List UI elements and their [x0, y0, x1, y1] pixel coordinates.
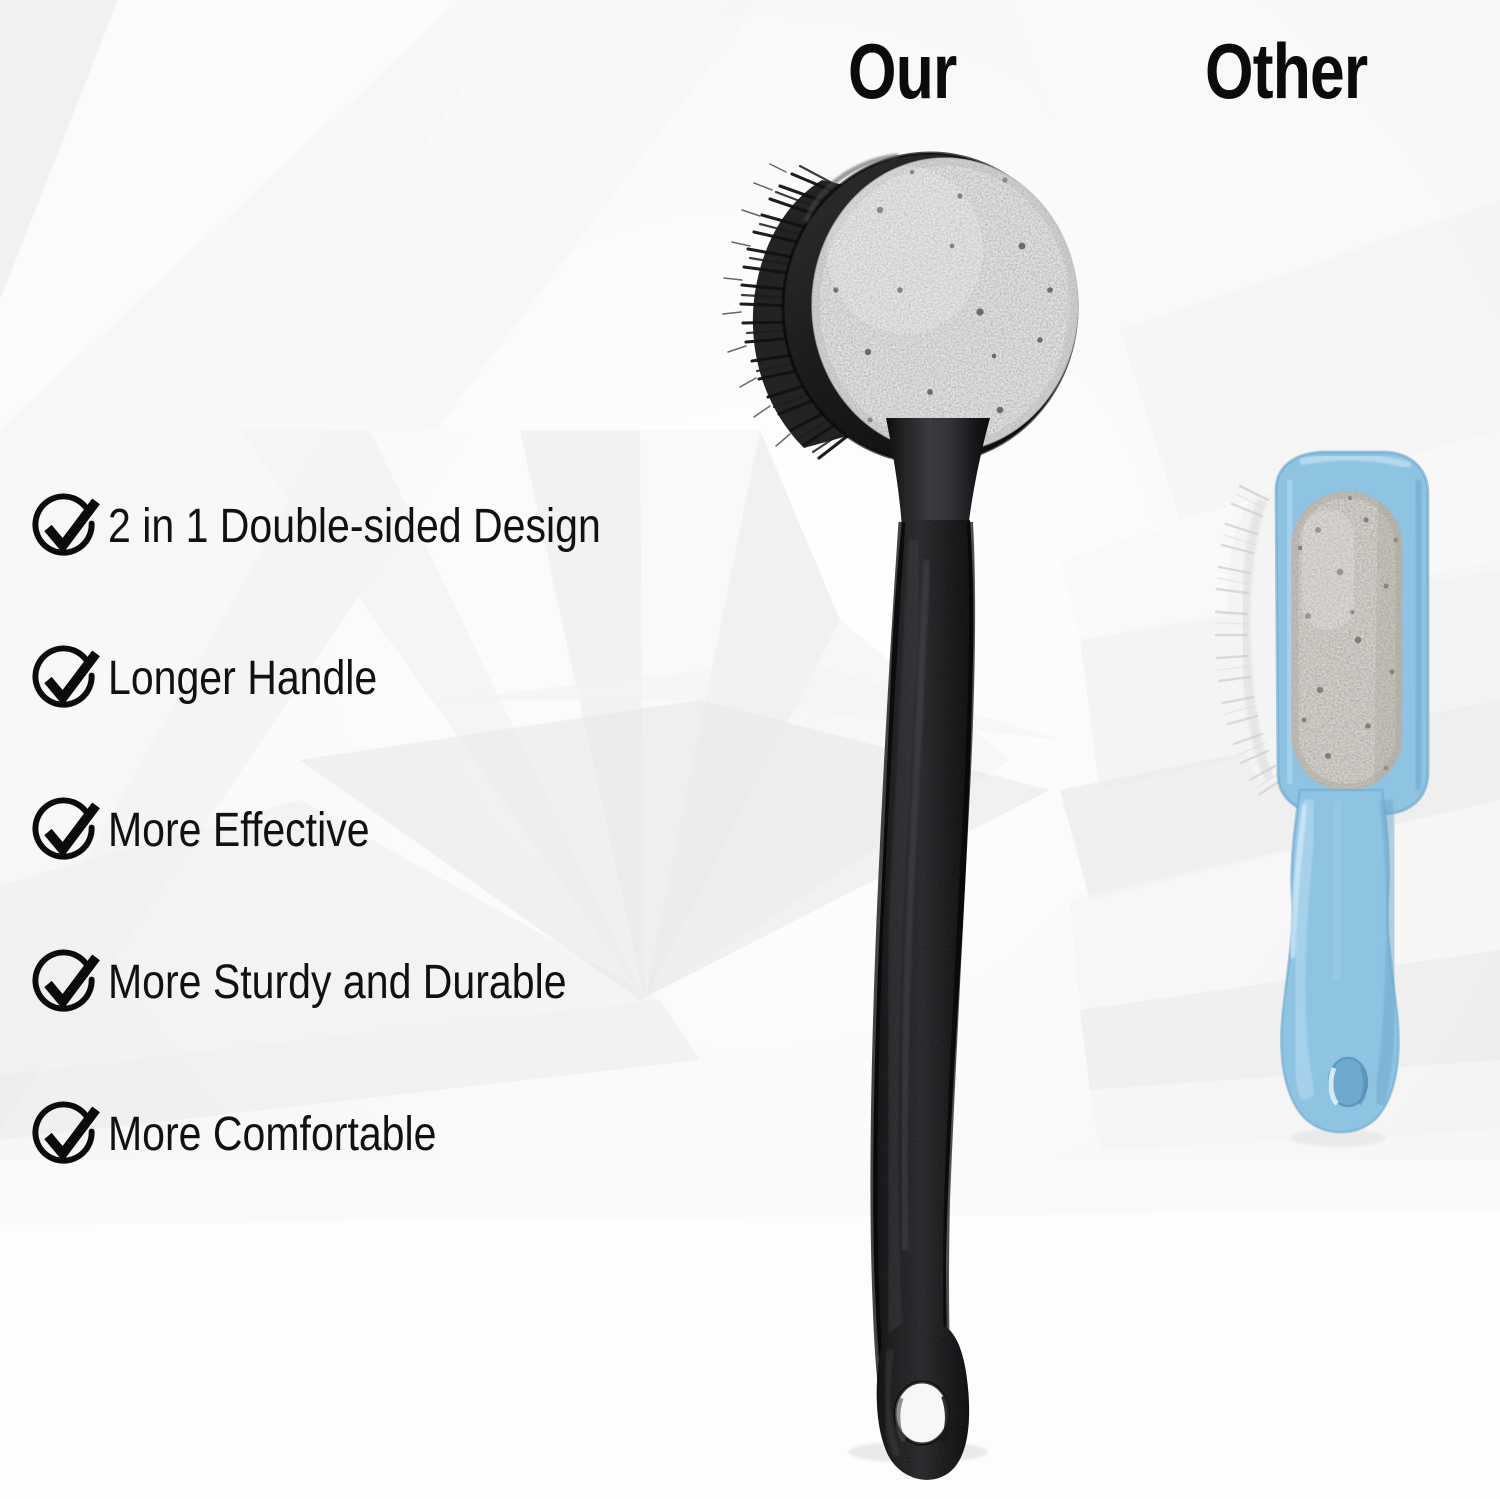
comparison-headers: Our Other [0, 0, 1500, 140]
feature-item: 2 in 1 Double-sided Design [28, 452, 868, 604]
feature-list: 2 in 1 Double-sided Design Longer Handle… [28, 452, 868, 1212]
feature-label: Longer Handle [108, 655, 377, 703]
feature-item: More Effective [28, 756, 868, 908]
feature-item: More Sturdy and Durable [28, 908, 868, 1060]
check-circle-icon [28, 947, 102, 1021]
feature-item: More Comfortable [28, 1060, 868, 1212]
feature-label: More Comfortable [108, 1111, 436, 1159]
check-circle-icon [28, 491, 102, 565]
feature-label: More Effective [108, 807, 370, 855]
our-column-header: Our [848, 32, 957, 110]
feature-label: More Sturdy and Durable [108, 959, 567, 1007]
feature-label: 2 in 1 Double-sided Design [108, 503, 601, 551]
feature-item: Longer Handle [28, 604, 868, 756]
check-circle-icon [28, 1099, 102, 1173]
check-circle-icon [28, 643, 102, 717]
check-circle-icon [28, 795, 102, 869]
other-column-header: Other [1205, 32, 1367, 110]
product-comparison-image: Our Other 2 in 1 Double-sided Design Lon… [0, 0, 1500, 1499]
